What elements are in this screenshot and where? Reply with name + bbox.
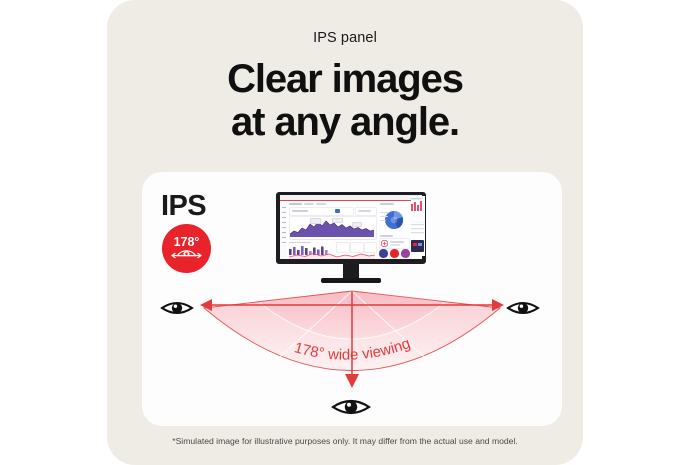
sidebar-tick [282,212,286,213]
dashboard-right-column [411,196,425,256]
alert-text [390,241,404,243]
filter-button[interactable] [335,209,340,214]
sidebar-tick [282,222,286,223]
filter-pill-text [358,210,371,212]
section-title [289,242,311,243]
chart-tooltip [352,222,362,227]
illustration-root: IPS panel Clear images at any angle. IPS… [0,0,700,465]
arrow-down [345,374,359,388]
dashboard-chip [289,203,302,205]
section-title [380,235,393,237]
filter-text [292,210,308,212]
dashboard-accent-line [280,200,422,201]
alert-icon [381,240,388,247]
eyebrow-text: IPS panel [107,30,583,46]
eye-center-icon [331,394,371,420]
ips-label: IPS [161,190,206,223]
sidebar-tick [282,237,286,238]
monitor-screen [280,195,422,259]
svg-text:178°: 178° [174,235,200,249]
sidebar-tick [282,232,286,233]
footnote: *Simulated image for illustrative purpos… [107,436,583,446]
eye-left-icon [160,297,194,319]
section-title [380,203,394,205]
alert-text [390,244,400,246]
chart-tooltip [332,218,343,224]
sidebar-tick [282,207,286,208]
sidebar-tick [282,217,286,218]
headline-line-2: at any angle. [107,101,583,144]
dashboard-sidebar [280,201,287,259]
chart-axis [290,239,374,240]
sidebar-tick [282,227,286,228]
dashboard-chip [304,203,314,205]
eye-right-icon [506,297,540,319]
dashboard-chip [316,203,326,205]
chart-tooltip [310,218,321,224]
headline-line-1: Clear images [227,57,463,101]
monitor-bezel [276,192,426,264]
sidebar-tick [282,242,286,243]
page-title: Clear images at any angle. [107,58,583,144]
